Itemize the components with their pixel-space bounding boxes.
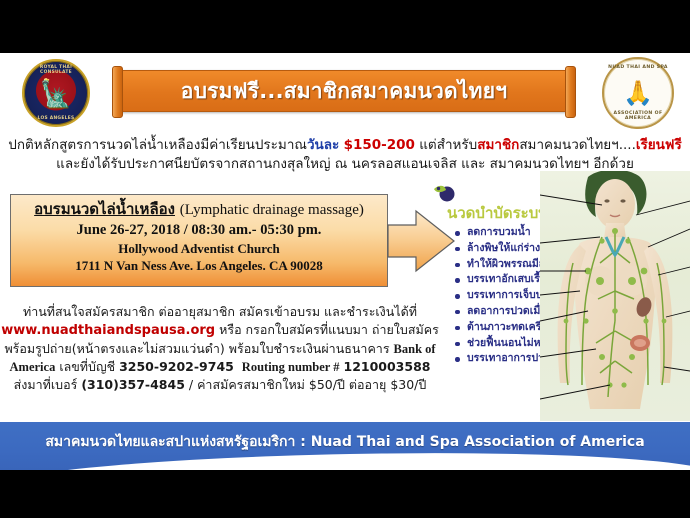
consulate-seal-bottom-text: LOS ANGELES bbox=[24, 116, 88, 121]
website-url[interactable]: www.nuadthaiandspausa.org bbox=[1, 323, 215, 338]
footer-banner: สมาคมนวดไทยและสปาแห่งสหรัฐอเมริกา : Nuad… bbox=[0, 422, 690, 470]
intro-text-b: แต่สำหรับ bbox=[419, 137, 477, 153]
para-line-2: www.nuadthaiandspausa.org หรือ กรอกใบสมั… bbox=[0, 321, 440, 340]
para-line-2-rest: หรือ กรอกใบสมัครที่แนบมา ถ่ายใบสมัคร bbox=[219, 322, 439, 337]
bank-name-part-1: Bank of bbox=[394, 342, 436, 356]
membership-fee-text: / ค่าสมัครสมาชิกใหม่ $50/ปี ต่ออายุ $30/… bbox=[189, 377, 426, 392]
intro-paragraph: ปกติหลักสูตรการนวดไล่น้ำเหลืองมีค่าเรียน… bbox=[0, 136, 690, 174]
intro-text-c: สมาคมนวดไทยฯ.... bbox=[519, 137, 636, 153]
screenshot-stage: ROYAL THAI CONSULATE 🗽 LOS ANGELES อบรมฟ… bbox=[0, 0, 690, 518]
intro-price: $150-200 bbox=[344, 137, 415, 153]
anatomy-figure-icon bbox=[540, 171, 690, 421]
ribbon-cap-right-icon bbox=[565, 66, 576, 118]
para-line-5: ส่งมาที่เบอร์ (310)357-4845 / ค่าสมัครสม… bbox=[0, 376, 440, 394]
association-seal-bottom-text: ASSOCIATION OF AMERICA bbox=[604, 111, 672, 121]
phone-number[interactable]: (310)357-4845 bbox=[81, 377, 185, 392]
card-venue: Hollywood Adventist Church bbox=[11, 240, 387, 257]
lymphatic-system-illustration bbox=[540, 171, 690, 421]
registration-paragraph: ท่านที่สนใจสมัครสมาชิก ต่ออายุสมาชิก สมั… bbox=[0, 303, 440, 394]
routing-number: 1210003588 bbox=[344, 359, 431, 374]
garuda-emblem-icon: 🗽 bbox=[40, 81, 72, 107]
consulate-seal-top-text: ROYAL THAI CONSULATE bbox=[24, 65, 88, 75]
title-ribbon: อบรมฟรี...สมาชิกสมาคมนวดไทยฯ bbox=[118, 70, 570, 112]
card-title-thai: อบรมนวดไล่น้ำเหลือง bbox=[34, 200, 175, 218]
intro-member: สมาชิก bbox=[477, 137, 519, 153]
intro-text-a: ปกติหลักสูตรการนวดไล่น้ำเหลืองมีค่าเรียน… bbox=[8, 137, 307, 153]
royal-thai-consulate-seal-icon: ROYAL THAI CONSULATE 🗽 LOS ANGELES bbox=[22, 59, 90, 127]
account-number: 3250-9202-9745 bbox=[119, 359, 234, 374]
event-info-card: อบรมนวดไล่น้ำเหลือง (Lymphatic drainage … bbox=[10, 194, 388, 287]
card-title-english: (Lymphatic drainage massage) bbox=[180, 202, 364, 218]
association-seal-top-text: NUAD THAI AND SPA bbox=[604, 65, 672, 70]
banner-text: สมาคมนวดไทยและสปาแห่งสหรัฐอเมริกา : Nuad… bbox=[0, 431, 690, 453]
card-address: 1711 N Van Ness Ave. Los Angeles. CA 900… bbox=[11, 257, 387, 274]
routing-label: Routing number # bbox=[242, 360, 340, 374]
flyer-poster: ROYAL THAI CONSULATE 🗽 LOS ANGELES อบรมฟ… bbox=[0, 53, 690, 470]
card-title-row: อบรมนวดไล่น้ำเหลือง (Lymphatic drainage … bbox=[11, 199, 387, 220]
para-line-4: America เลขที่บัญชี 3250-9202-9745 Routi… bbox=[0, 358, 440, 376]
intro-per-day: วันละ bbox=[307, 137, 339, 153]
leaf-logo-icon bbox=[432, 183, 458, 203]
intro-free-badge: เรียนฟรี bbox=[636, 137, 682, 153]
flyer-title: อบรมฟรี...สมาชิกสมาคมนวดไทยฯ bbox=[181, 75, 507, 108]
card-date-time: June 26-27, 2018 / 08:30 am.- 05:30 pm. bbox=[11, 220, 387, 240]
ribbon-cap-left-icon bbox=[112, 66, 123, 118]
para-line-3-text: พร้อมรูปถ่าย(หน้าตรงและไม่สวมแว่นดำ) พร้… bbox=[4, 341, 389, 356]
bank-name-part-2: America bbox=[10, 360, 56, 374]
nuad-thai-association-seal-icon: NUAD THAI AND SPA 🙏 ASSOCIATION OF AMERI… bbox=[602, 57, 674, 129]
hands-massage-icon: 🙏 bbox=[623, 81, 653, 105]
para-line-1: ท่านที่สนใจสมัครสมาชิก ต่ออายุสมาชิก สมั… bbox=[0, 303, 440, 321]
intro-line-1: ปกติหลักสูตรการนวดไล่น้ำเหลืองมีค่าเรียน… bbox=[0, 136, 690, 155]
flyer-header: ROYAL THAI CONSULATE 🗽 LOS ANGELES อบรมฟ… bbox=[0, 53, 690, 115]
account-label: เลขที่บัญชี bbox=[59, 359, 115, 374]
fax-label: ส่งมาที่เบอร์ bbox=[14, 377, 78, 392]
para-line-3: พร้อมรูปถ่าย(หน้าตรงและไม่สวมแว่นดำ) พร้… bbox=[0, 340, 440, 358]
